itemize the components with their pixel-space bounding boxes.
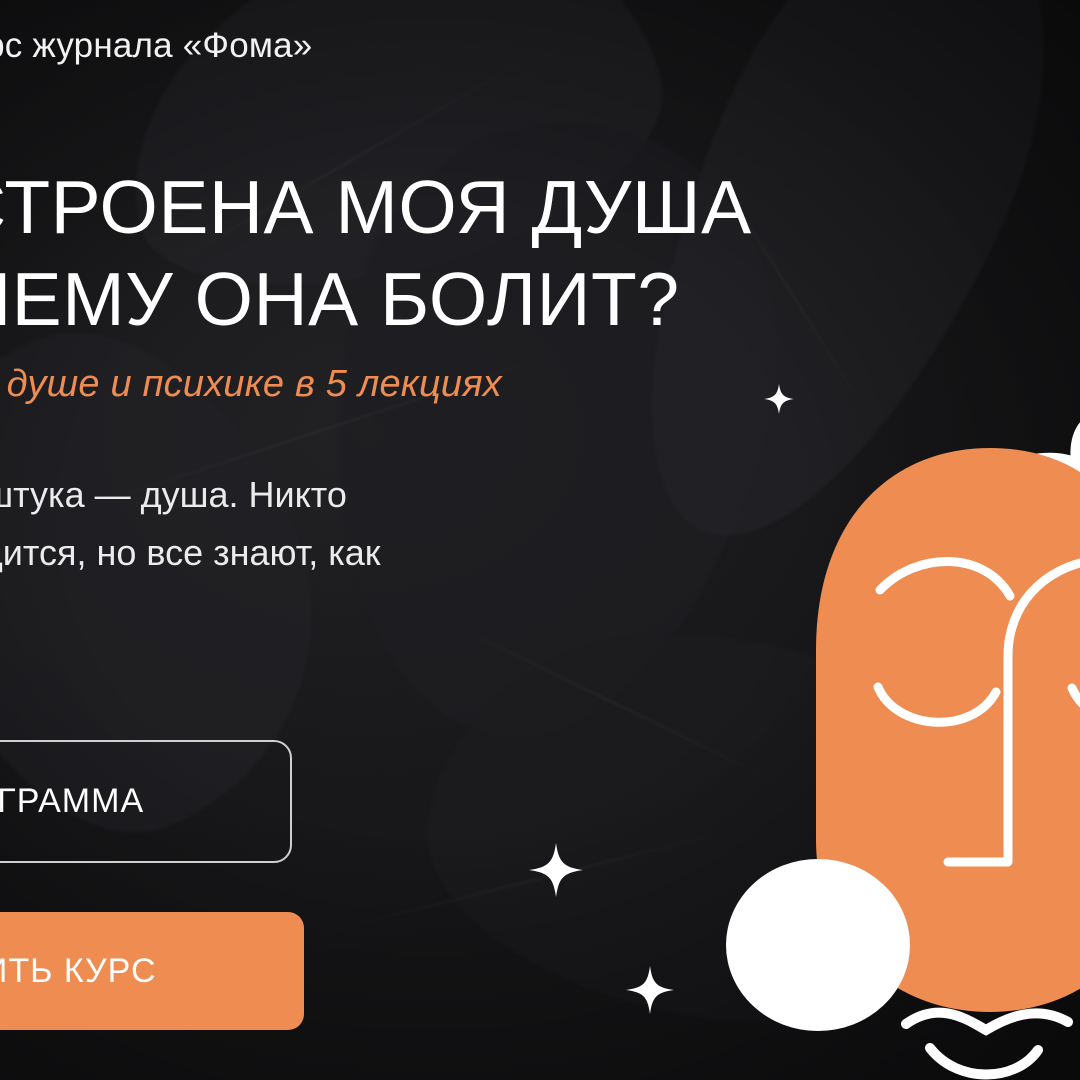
hero-subtitle: бесед о душе и психике в 5 лекциях: [0, 363, 502, 406]
program-button[interactable]: ОГРАММА: [0, 740, 292, 863]
course-eyebrow: -курс журнала «Фома»: [0, 26, 312, 66]
hero-page: -курс журнала «Фома» УСТРОЕНА МОЯ ДУША О…: [0, 0, 1080, 1080]
headline-line-2: ОЧЕМУ ОНА БОЛИТ?: [0, 254, 752, 346]
hero-content: -курс журнала «Фома» УСТРОЕНА МОЯ ДУША О…: [0, 0, 1080, 1080]
buy-course-button[interactable]: ПИТЬ КУРС: [0, 912, 304, 1030]
headline-line-1: УСТРОЕНА МОЯ ДУША: [0, 162, 752, 254]
hero-description: ъяснимая штука — душа. Никто т, где нахо…: [0, 466, 381, 583]
description-line-2: т, где находится, но все знают, как: [0, 524, 381, 582]
description-line-1: ъяснимая штука — душа. Никто: [0, 466, 381, 524]
page-title: УСТРОЕНА МОЯ ДУША ОЧЕМУ ОНА БОЛИТ?: [0, 162, 752, 345]
